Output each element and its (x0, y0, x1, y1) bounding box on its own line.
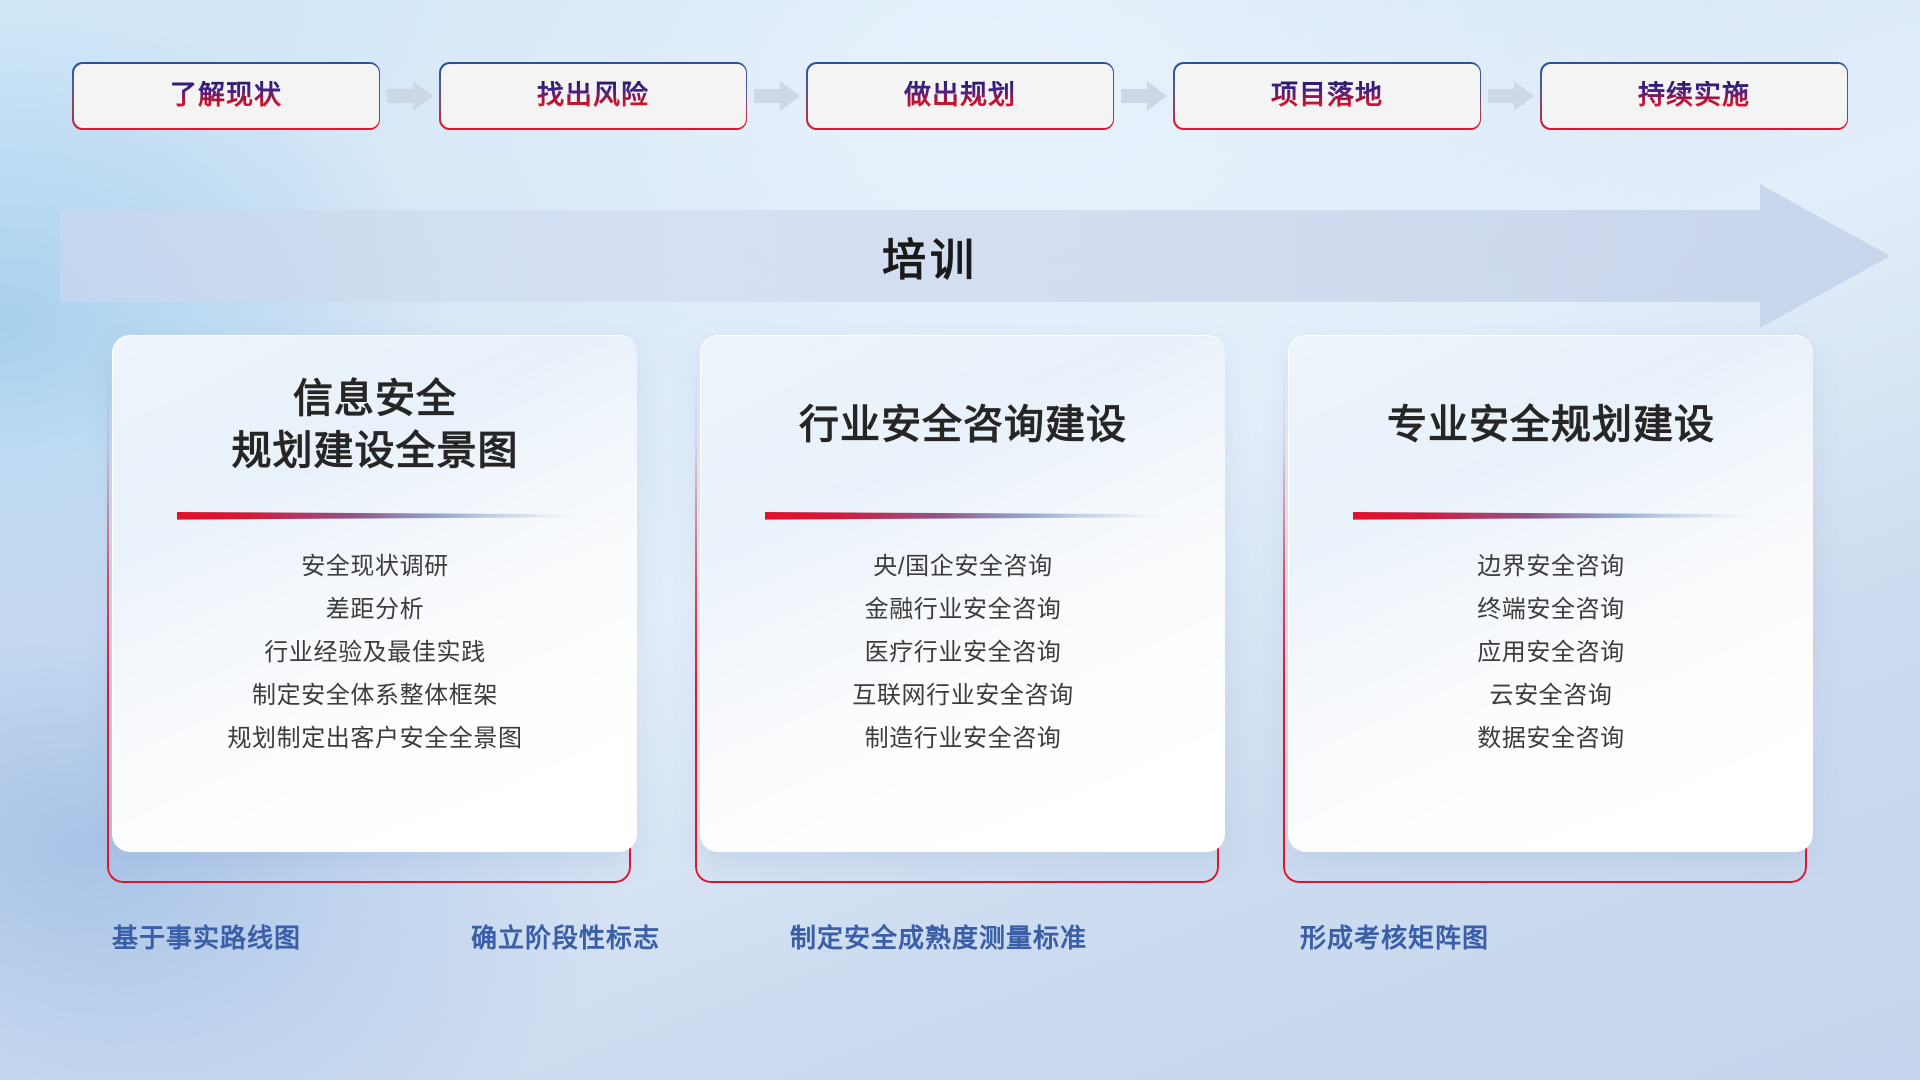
card-title-line-1: 行业安全咨询建设 (799, 399, 1127, 451)
list-item: 应用安全咨询 (1477, 632, 1625, 674)
card-panel: 专业安全规划建设 (1288, 335, 1813, 852)
footer-labels-row: 基于事实路线图 确立阶段性标志 制定安全成熟度测量标准 形成考核矩阵图 (0, 918, 1920, 966)
list-item: 制造行业安全咨询 (865, 718, 1062, 760)
card-list: 央/国企安全咨询 金融行业安全咨询 医疗行业安全咨询 互联网行业安全咨询 制造行… (852, 546, 1073, 760)
step-box-4[interactable]: 项目落地 (1175, 64, 1480, 128)
step-label: 项目落地 (1271, 81, 1383, 111)
cards-row: 信息安全 规划建设全景图 (0, 335, 1920, 885)
list-item: 边界安全咨询 (1477, 546, 1625, 588)
banner-title: 培训 (882, 224, 978, 288)
footer-label-4: 形成考核矩阵图 (1300, 918, 1489, 955)
card-panel: 行业安全咨询建设 (700, 335, 1225, 852)
list-item: 互联网行业安全咨询 (852, 675, 1073, 717)
card-title: 行业安全咨询建设 (799, 360, 1127, 490)
banner-title-wrap: 培训 (0, 182, 1920, 330)
list-item: 差距分析 (326, 589, 424, 631)
list-item: 安全现状调研 (301, 546, 449, 588)
card-title-line-1: 信息安全 (232, 373, 519, 425)
list-item: 金融行业安全咨询 (865, 589, 1062, 631)
step-arrow-icon-3 (1116, 78, 1172, 114)
card-title: 专业安全规划建设 (1387, 360, 1715, 490)
step-label: 持续实施 (1638, 81, 1750, 111)
step-label: 做出规划 (904, 81, 1016, 111)
card-divider (1353, 511, 1749, 520)
step-arrow-icon-4 (1483, 78, 1539, 114)
step-arrow-icon-1 (382, 78, 438, 114)
card-1[interactable]: 信息安全 规划建设全景图 (107, 335, 637, 883)
step-box-2[interactable]: 找出风险 (441, 64, 746, 128)
card-divider (177, 511, 573, 520)
step-box-5[interactable]: 持续实施 (1542, 64, 1847, 128)
card-title-line-2: 规划建设全景图 (232, 425, 519, 477)
card-divider (765, 511, 1161, 520)
step-box-3[interactable]: 做出规划 (808, 64, 1113, 128)
step-label: 了解现状 (170, 81, 282, 111)
card-panel: 信息安全 规划建设全景图 (112, 335, 637, 852)
list-item: 央/国企安全咨询 (873, 546, 1052, 588)
list-item: 云安全咨询 (1489, 675, 1612, 717)
list-item: 医疗行业安全咨询 (865, 632, 1062, 674)
step-box-1[interactable]: 了解现状 (74, 64, 379, 128)
card-list: 安全现状调研 差距分析 行业经验及最佳实践 制定安全体系整体框架 规划制定出客户… (227, 546, 522, 760)
list-item: 数据安全咨询 (1477, 718, 1625, 760)
process-steps-row: 了解现状 找出风险 做出规划 项目落地 持续实施 (0, 62, 1920, 130)
card-2[interactable]: 行业安全咨询建设 (695, 335, 1225, 883)
list-item: 行业经验及最佳实践 (264, 632, 485, 674)
list-item: 制定安全体系整体框架 (252, 675, 498, 717)
card-list: 边界安全咨询 终端安全咨询 应用安全咨询 云安全咨询 数据安全咨询 (1477, 546, 1625, 760)
step-label: 找出风险 (537, 81, 649, 111)
list-item: 终端安全咨询 (1477, 589, 1625, 631)
footer-label-3: 制定安全成熟度测量标准 (790, 918, 1087, 955)
card-title-line-1: 专业安全规划建设 (1387, 399, 1715, 451)
step-arrow-icon-2 (749, 78, 805, 114)
footer-label-2: 确立阶段性标志 (471, 918, 660, 955)
training-banner: 培训 (0, 182, 1920, 330)
card-3[interactable]: 专业安全规划建设 (1283, 335, 1813, 883)
footer-label-1: 基于事实路线图 (112, 918, 301, 955)
card-title: 信息安全 规划建设全景图 (232, 360, 519, 490)
list-item: 规划制定出客户安全全景图 (227, 718, 522, 760)
